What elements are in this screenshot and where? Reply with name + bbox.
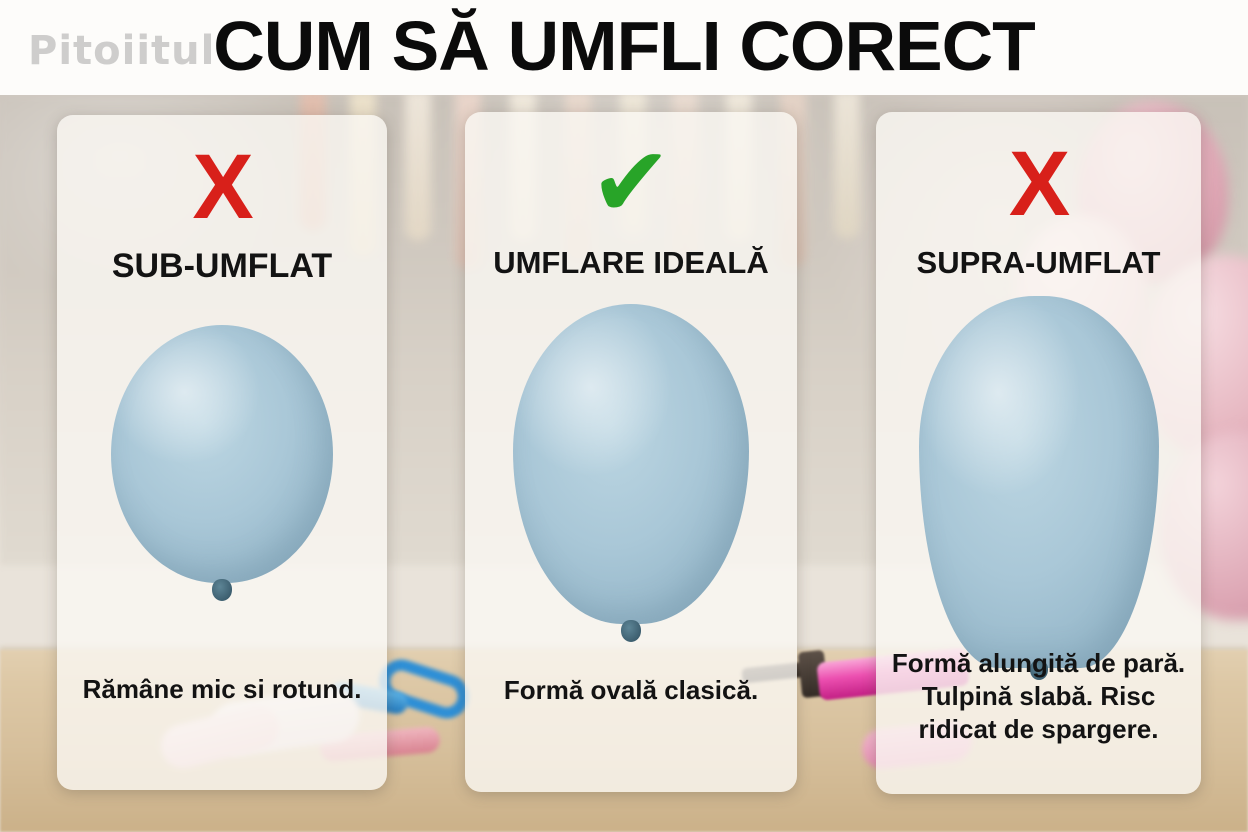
page-title: CUM SĂ UMFLI CORECT BALOANELE	[0, 8, 1248, 95]
tassel-garland-item	[405, 95, 431, 241]
balloon-illustration-oval	[465, 302, 797, 662]
balloon-shape-round	[111, 325, 333, 583]
title-band: Pitoiitul CUM SĂ UMFLI CORECT BALOANELE	[0, 0, 1248, 95]
card-caption-sub-inflated: Rămâne mic si rotund.	[71, 673, 373, 706]
balloon-knot	[621, 620, 641, 642]
green-check-icon: ✔	[465, 134, 797, 232]
balloon-knot	[212, 579, 232, 601]
card-title-ideal-inflation: UMFLARE IDEALĂ	[465, 244, 797, 282]
balloon-illustration-pear	[876, 302, 1201, 662]
card-title-over-inflated: SUPRA-UMFLAT	[876, 244, 1201, 282]
tassel-garland-item	[834, 95, 860, 239]
balloon-shape-pear	[919, 296, 1159, 668]
balloon-illustration-round	[57, 305, 387, 665]
red-x-icon: X	[876, 138, 1201, 230]
card-ideal-inflation[interactable]: ✔ UMFLARE IDEALĂ Formă ovală clasică.	[465, 112, 797, 792]
balloon-shape-oval	[513, 304, 749, 624]
card-sub-inflated[interactable]: X SUB-UMFLAT Rămâne mic si rotund.	[57, 115, 387, 790]
red-x-icon: X	[57, 141, 387, 233]
card-caption-ideal-inflation: Formă ovală clasică.	[479, 674, 783, 707]
card-title-sub-inflated: SUB-UMFLAT	[57, 247, 387, 285]
card-caption-over-inflated: Formă alungită de pară. Tulpină slabă. R…	[890, 647, 1187, 746]
card-over-inflated[interactable]: X SUPRA-UMFLAT Formă alungită de pară. T…	[876, 112, 1201, 794]
